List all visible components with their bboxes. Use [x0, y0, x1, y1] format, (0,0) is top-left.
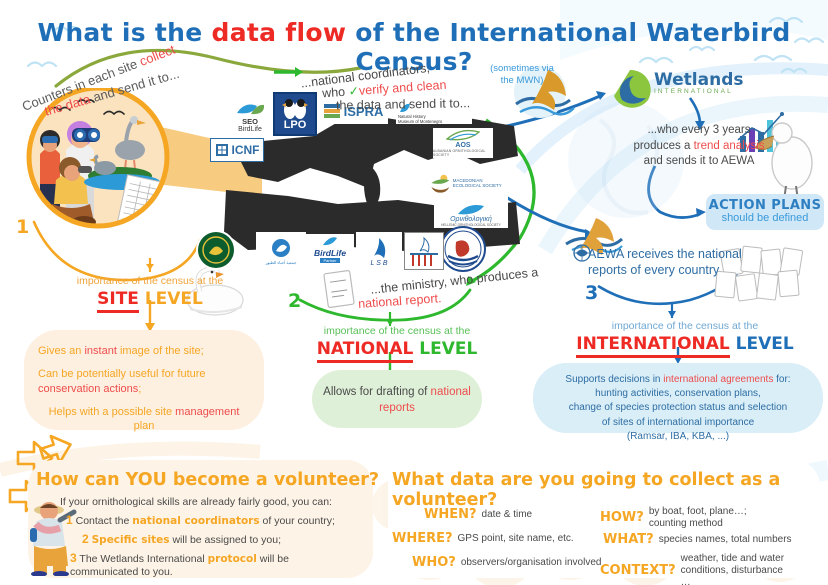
- site-level-benefits: Gives an instant image of the site; Can …: [24, 330, 264, 430]
- icnf-label: ICNF: [232, 143, 260, 157]
- int-benefit-l4: of sites of international importance: [602, 417, 754, 428]
- qa-what-q: WHAT?: [603, 532, 654, 548]
- lsb-icon: [368, 236, 390, 260]
- site-benefit-2: Can be potentially useful for future con…: [38, 367, 250, 397]
- wetlands-international-label: Wetlands INTERNATIONAL: [654, 70, 744, 95]
- vol1-num: 1: [66, 513, 73, 527]
- logo-icnf: ICNF: [210, 138, 264, 162]
- ornithologiki-icon: [456, 204, 486, 216]
- site-b1-b: image of the site;: [117, 345, 204, 357]
- site-level-caption: importance of the census at the: [30, 275, 270, 287]
- aewa-text: AEWA receives the national reports of ev…: [588, 246, 748, 279]
- logo-bulgaria-circle: [440, 226, 486, 272]
- volunteer-step-2: 2 Specific sites will be assigned to you…: [82, 532, 281, 546]
- national-level-heading: importance of the census at the NATIONAL…: [272, 325, 522, 359]
- national-level-word: LEVEL: [413, 339, 477, 359]
- site-b3-a: Helps with a possible site: [49, 406, 176, 418]
- international-level-title: INTERNATIONAL LEVEL: [576, 334, 793, 358]
- mwn-note: (sometimes via the MWN): [487, 63, 557, 87]
- national-word: NATIONAL: [317, 339, 414, 363]
- volunteer-step-1: 1 Contact the national coordinators of y…: [66, 513, 335, 527]
- site-b2-hl: conservation actions: [38, 383, 138, 395]
- lpo-label: LPO: [284, 120, 307, 131]
- qa-when-a: date & time: [482, 509, 533, 521]
- qa-how-q: HOW?: [600, 510, 644, 526]
- logo-birdlife: BirdLife Partner: [306, 234, 354, 264]
- qa-when-q: WHEN?: [424, 507, 477, 523]
- ministry-text: ...the ministry, who produces a national…: [358, 272, 558, 306]
- vol1-hi: national coordinators: [132, 515, 259, 527]
- egypt-icon: [407, 234, 441, 268]
- report-icon: [324, 270, 354, 307]
- bulgaria-icon: [444, 230, 482, 268]
- site-level-heading: importance of the census at the SITE LEV…: [30, 275, 270, 309]
- wi-text-b: and sends it to AEWA: [644, 155, 755, 167]
- aos-label: AOS: [455, 142, 470, 149]
- logo-ornithologiki: Ορνιθολογική HELLENIC ORNITHOLOGICAL SOC…: [434, 202, 508, 228]
- qa-where-a: GPS point, site name, etc.: [458, 533, 574, 545]
- step-number-2: 2: [288, 290, 301, 312]
- qa-what-a: species names, total numbers: [659, 534, 792, 546]
- montenegro-label: Natural HistoryMuseum of Montenegro: [398, 114, 442, 124]
- wetlands-trend-text: ...who every 3 years produces a trend an…: [629, 123, 769, 170]
- national-level-benefits: Allows for drafting of national reports: [312, 370, 482, 428]
- int-benefit-b: for:: [773, 374, 790, 385]
- data-collection-heading: What data are you going to collect as a …: [392, 470, 828, 510]
- volunteer-heading: How can YOU become a volunteer?: [36, 470, 379, 490]
- international-level-benefits: Supports decisions in international agre…: [533, 363, 823, 433]
- international-level-heading: importance of the census at the INTERNAT…: [540, 320, 828, 354]
- site-b3-hl: management: [175, 406, 239, 418]
- nat-benefit-a: Allows for drafting of: [323, 386, 430, 398]
- seo-birdlife-icon: [235, 102, 265, 118]
- step-number-3: 3: [585, 282, 598, 304]
- volunteer-lead: If your ornithological skills are alread…: [60, 496, 332, 508]
- vol1-a: Contact the: [76, 515, 133, 527]
- vol3-num: 3: [70, 551, 77, 565]
- vol2-b: will be assigned to you;: [170, 534, 281, 546]
- natcoord-line3: the data and send it to...: [336, 94, 506, 113]
- logo-algeria: [196, 230, 236, 270]
- birdlife-label: BirdLife: [238, 126, 262, 134]
- algeria-icon: [197, 231, 235, 269]
- logo-tunisia-aao: جمعية أحباء الطيور: [256, 232, 306, 270]
- action-plans-badge: ACTION PLANS should be defined: [706, 194, 824, 230]
- logo-lsb: L S B: [356, 232, 402, 270]
- qa-where-q: WHERE?: [392, 531, 453, 547]
- qa-who-q: WHO?: [412, 555, 456, 571]
- site-benefit-1: Gives an instant image of the site;: [38, 344, 250, 359]
- site-level-word: LEVEL: [139, 289, 203, 309]
- birdlife-label2: BirdLife: [314, 248, 346, 258]
- site-b3-b: plan: [134, 420, 155, 432]
- site-b2-a: Can be potentially useful for future: [38, 368, 206, 380]
- qa-what: WHAT?species names, total numbers: [603, 532, 792, 548]
- qa-where: WHERE?GPS point, site name, etc.: [392, 531, 574, 547]
- site-b2-b: ;: [138, 383, 141, 395]
- aos-sub: ALBANIAN ORNITHOLOGICAL SOCIETY: [433, 149, 493, 157]
- vol2-hi: Specific sites: [92, 534, 170, 546]
- qa-context: CONTEXT?weather, tide and water conditio…: [600, 553, 825, 585]
- step-number-1: 1: [16, 216, 29, 238]
- int-benefit-l5: (Ramsar, IBA, KBA, ...): [627, 431, 729, 442]
- qa-who-a: observers/organisation involved: [461, 557, 602, 569]
- international-level-word: LEVEL: [730, 334, 794, 354]
- national-coordinators-text: ...national coordinators, who ✓verify an…: [296, 63, 506, 112]
- infographic-page: What is the data flow of the Internation…: [0, 0, 828, 585]
- seo-label: SEO: [242, 118, 258, 126]
- logo-seo-birdlife: SEO BirdLife: [226, 100, 274, 136]
- logo-macedonian-ecological-society: MACEDONIAN ECOLOGICAL SOCIETY: [430, 166, 508, 200]
- lsb-label: L S B: [371, 260, 388, 267]
- wetlands-word: Wetlands: [654, 70, 744, 90]
- birdlife-icon: [322, 236, 338, 248]
- icnf-icon: [215, 143, 229, 157]
- wi-text-red: trend analysis: [694, 140, 765, 152]
- aos-icon: [446, 129, 480, 142]
- mes-icon: [430, 169, 451, 197]
- volunteer-step-3: 3 The Wetlands International protocol wi…: [70, 551, 320, 579]
- national-level-caption: importance of the census at the: [272, 325, 522, 337]
- logo-egypt: [404, 232, 444, 270]
- national-level-title: NATIONAL LEVEL: [317, 339, 478, 363]
- title-part1: What is the: [37, 18, 211, 47]
- ornithologiki-sub: HELLENIC ORNITHOLOGICAL SOCIETY: [441, 223, 501, 227]
- international-word: INTERNATIONAL: [576, 334, 730, 358]
- qa-when: WHEN?date & time: [424, 507, 532, 523]
- birdlife-partner: Partner: [320, 258, 339, 263]
- int-benefit-a: Supports decisions in: [565, 374, 663, 385]
- action-plans-sub: should be defined: [706, 212, 824, 224]
- site-b1-hl: instant: [84, 345, 116, 357]
- int-benefit-red: international agreements: [663, 374, 773, 385]
- int-benefit-l2: hunting activities, conservation plans,: [595, 388, 761, 399]
- site-level-title: SITE LEVEL: [97, 289, 203, 313]
- international-level-caption: importance of the census at the: [540, 320, 828, 332]
- vol3-hi: protocol: [208, 553, 257, 565]
- site-b1-a: Gives an: [38, 345, 84, 357]
- aao-icon: [268, 238, 294, 260]
- qa-ctx-q: CONTEXT?: [600, 563, 676, 579]
- aao-label: جمعية أحباء الطيور: [266, 260, 297, 265]
- wetlands-sub: INTERNATIONAL: [654, 88, 744, 95]
- ornithologiki-label: Ορνιθολογική: [450, 216, 492, 223]
- logo-aos: AOS ALBANIAN ORNITHOLOGICAL SOCIETY: [433, 128, 493, 158]
- vol3-a: The Wetlands International: [79, 553, 207, 565]
- title-highlight: data flow: [212, 18, 347, 47]
- qa-how: HOW?by boat, foot, plane…; counting meth…: [600, 506, 820, 530]
- vol2-num: 2: [82, 532, 89, 546]
- qa-ctx-a: weather, tide and water conditions, dist…: [681, 553, 796, 585]
- mediterranean-map-with-logos: SEO BirdLife LPO ISPRA: [218, 104, 528, 264]
- qa-how-a: by boat, foot, plane…; counting method: [649, 506, 769, 530]
- action-plans-title: ACTION PLANS: [706, 198, 824, 213]
- qa-who: WHO?observers/organisation involved: [412, 555, 601, 571]
- mes-label: MACEDONIAN ECOLOGICAL SOCIETY: [453, 178, 508, 189]
- int-benefit-l3: change of species protection status and …: [569, 402, 787, 413]
- site-benefit-3: Helps with a possible site management pl…: [38, 405, 250, 435]
- vol1-b: of your country;: [260, 515, 335, 527]
- site-word: SITE: [97, 289, 139, 313]
